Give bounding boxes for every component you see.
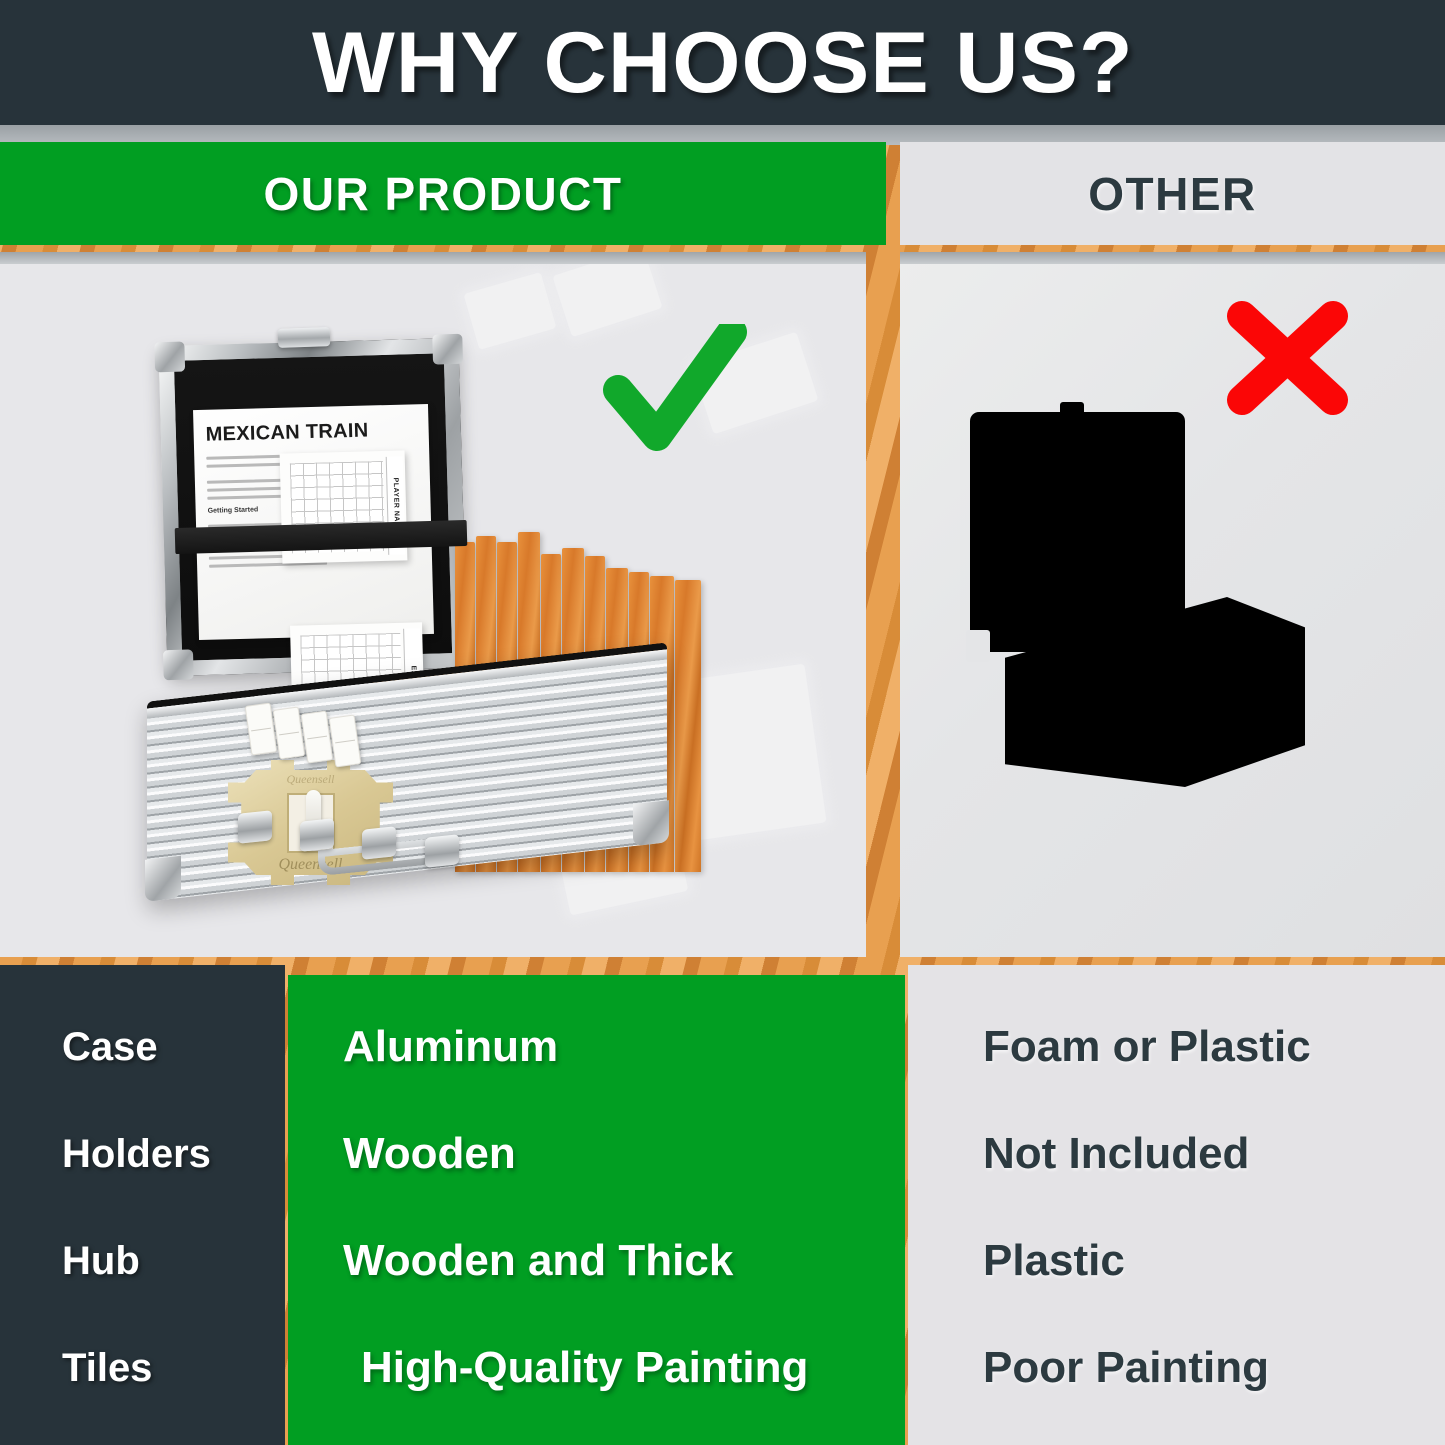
wooden-holder: [675, 580, 701, 872]
other-product-photo-panel: [900, 252, 1445, 957]
cross-icon-svg: [1220, 298, 1355, 418]
hub-brand-top: Queensell: [228, 772, 393, 787]
table-row: Holders Wooden Not Included: [0, 1102, 1445, 1206]
case-corner: [154, 342, 185, 373]
table-row: Tiles High-Quality Painting Poor Paintin…: [0, 1316, 1445, 1420]
feature-label: Holders: [0, 1132, 285, 1177]
check-icon-svg: [600, 324, 750, 459]
domino-divider: [251, 728, 271, 732]
black-box-photo: [900, 252, 1445, 957]
domino-divider: [307, 736, 327, 740]
other-header: OTHER: [900, 142, 1445, 245]
feature-label: Tiles: [0, 1346, 285, 1391]
case-corner: [145, 856, 181, 902]
title-bar: WHY CHOOSE US?: [0, 0, 1445, 125]
feature-label: Case: [0, 1025, 285, 1070]
our-product-header-label: OUR PRODUCT: [264, 167, 623, 221]
comparison-table: Case Aluminum Foam or Plastic Holders Wo…: [0, 965, 1445, 1445]
other-product-value: Not Included: [905, 1129, 1445, 1179]
table-row: Hub Wooden and Thick Plastic: [0, 1209, 1445, 1313]
our-product-value: Wooden: [285, 1129, 905, 1179]
case-clasp: [300, 818, 334, 852]
other-product-value: Poor Painting: [905, 1343, 1445, 1393]
black-box-lid: [970, 412, 1185, 652]
black-box-notch: [966, 630, 990, 662]
domino-divider: [279, 732, 299, 736]
other-product-value: Foam or Plastic: [905, 1022, 1445, 1072]
other-product-value: Plastic: [905, 1236, 1445, 1286]
domino-divider: [335, 740, 355, 744]
case-corner: [163, 649, 194, 680]
panel-top-shade: [900, 252, 1445, 264]
our-product-photo-panel: MEXICAN TRAIN Getting Started PLAYER NAM…: [0, 252, 866, 957]
case-clasp: [362, 826, 396, 860]
case-clasp: [238, 810, 272, 844]
our-product-value: Aluminum: [285, 1022, 905, 1072]
our-product-value: High-Quality Painting: [285, 1343, 905, 1393]
feature-label: Hub: [0, 1239, 285, 1284]
case-latch: [278, 327, 331, 348]
instruction-card-title: MEXICAN TRAIN: [205, 418, 417, 447]
case-clasp: [425, 834, 459, 868]
other-header-label: OTHER: [1088, 167, 1257, 221]
our-product-header: OUR PRODUCT: [0, 142, 886, 245]
page-title: WHY CHOOSE US?: [312, 20, 1134, 106]
check-icon: [600, 324, 750, 464]
our-product-value: Wooden and Thick: [285, 1236, 905, 1286]
case-corner: [633, 800, 669, 846]
table-row: Case Aluminum Foam or Plastic: [0, 995, 1445, 1099]
cross-icon: [1220, 298, 1355, 423]
panel-top-shade: [0, 252, 866, 264]
case-corner: [432, 334, 463, 365]
